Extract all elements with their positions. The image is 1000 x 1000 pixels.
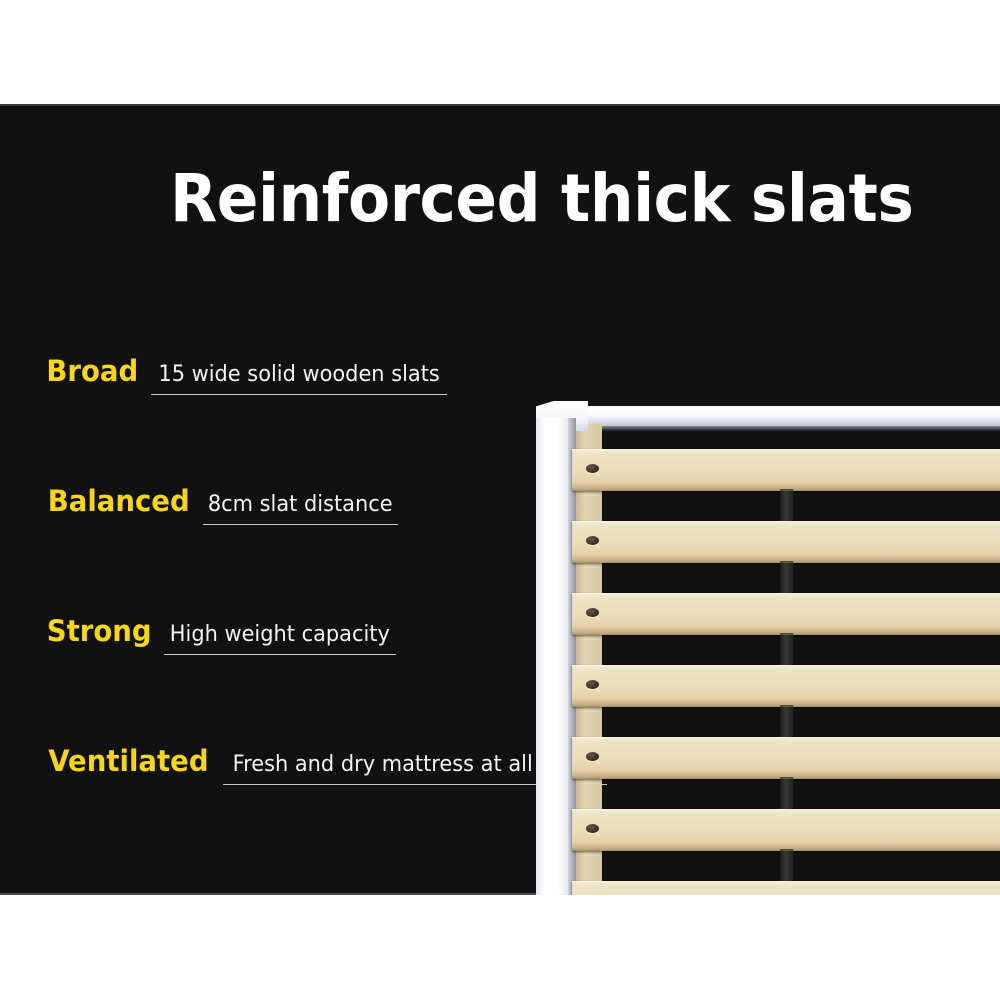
wooden-slat (572, 521, 1000, 563)
panel-top-edge (0, 104, 1000, 106)
feature-description: High weight capacity (170, 622, 390, 647)
slat-connector-highlight (780, 777, 793, 779)
feature-description-group: 15 wide solid wooden slats (151, 362, 447, 395)
feature-description-group: High weight capacity (164, 622, 396, 655)
feature-description: 8cm slat distance (208, 492, 393, 517)
slat-screw (586, 536, 599, 545)
slat-connector-highlight (780, 633, 793, 635)
slat-connector-strap (780, 633, 793, 667)
wooden-slat (572, 665, 1000, 707)
slat-connector-highlight (780, 489, 793, 491)
page-title: Reinforced thick slats (170, 166, 913, 232)
wooden-slat (572, 881, 1000, 895)
slat-screw (586, 824, 599, 833)
slat-screw (586, 680, 599, 689)
black-content-panel: Reinforced thick slats Broad 15 wide sol… (0, 104, 1000, 895)
product-photo-bed-slats (528, 284, 1000, 895)
feature-item-strong: Strong High weight capacity (44, 614, 544, 744)
slat-connector-strap (780, 705, 793, 739)
slat-screw (586, 752, 599, 761)
feature-item-ventilated: Ventilated Fresh and dry mattress at all… (44, 744, 544, 874)
feature-list: Broad 15 wide solid wooden slats Balance… (44, 354, 544, 874)
feature-item-balanced: Balanced 8cm slat distance (44, 484, 544, 614)
slat-connector-strap (780, 777, 793, 811)
feature-term: Balanced (48, 484, 190, 518)
feature-description: 15 wide solid wooden slats (158, 362, 439, 387)
feature-underline (203, 524, 397, 525)
slat-screw (586, 464, 599, 473)
slat-connector-highlight (780, 561, 793, 563)
feature-underline (151, 394, 447, 395)
feature-underline (164, 654, 396, 655)
feature-description-group: 8cm slat distance (203, 492, 397, 525)
slat-screw (586, 608, 599, 617)
product-feature-image: Reinforced thick slats Broad 15 wide sol… (0, 0, 1000, 1000)
feature-item-broad: Broad 15 wide solid wooden slats (44, 354, 544, 484)
slat-connector-highlight (780, 705, 793, 707)
wooden-slat-group (528, 284, 1000, 895)
wooden-slat (572, 593, 1000, 635)
slat-connector-strap (780, 561, 793, 595)
slat-connector-highlight (780, 849, 793, 851)
wooden-slat (572, 737, 1000, 779)
wooden-slat (572, 809, 1000, 851)
feature-term: Ventilated (48, 744, 208, 778)
feature-term: Broad (46, 354, 138, 388)
wooden-slat (572, 449, 1000, 491)
slat-connector-strap (780, 489, 793, 523)
feature-term: Strong (47, 614, 152, 648)
slat-connector-strap (780, 849, 793, 883)
